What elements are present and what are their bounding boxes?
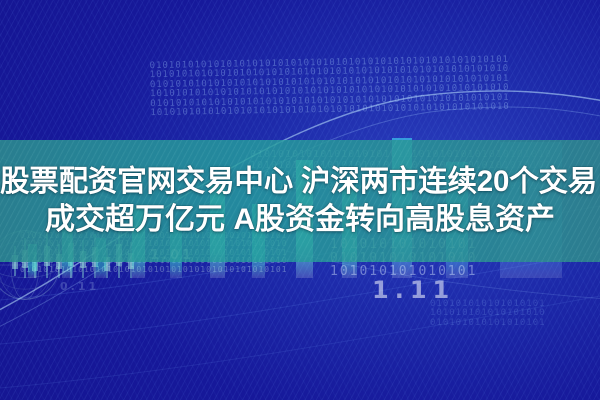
candlestick-body — [32, 260, 38, 272]
overlay-number-primary: 1.11 — [372, 276, 455, 304]
overlay-number-secondary: 1.01 — [150, 248, 194, 263]
candlestick — [34, 252, 36, 278]
candlestick-body — [56, 254, 62, 269]
chart-bar — [96, 238, 106, 278]
candlestick — [106, 248, 108, 278]
candlestick — [58, 244, 60, 278]
binary-field-bottom-right: 010101010101010101 101010101010101010 01… — [430, 300, 600, 328]
chart-bar — [28, 244, 37, 278]
candlestick-body — [128, 253, 134, 269]
candlestick-body — [22, 250, 28, 268]
candlestick-body — [68, 243, 74, 266]
candlestick — [130, 242, 132, 278]
candlestick — [94, 234, 96, 278]
candlestick — [82, 240, 84, 278]
headline-line-2: 成交超万亿元 A股资金转向高股息资产 — [0, 201, 600, 239]
page-title: 股票配资官网交易中心 沪深两市连续20个交易日 成交超万亿元 A股资金转向高股息… — [0, 163, 600, 239]
candlestick-body — [80, 251, 86, 268]
headline-line-1: 股票配资官网交易中心 沪深两市连续20个交易日 — [0, 163, 600, 201]
binary-field-upper: 0101010101010101010101010101010101010101… — [150, 54, 600, 119]
candlestick-body — [44, 246, 50, 267]
candlestick-body — [116, 244, 122, 266]
candlestick-body — [104, 257, 110, 271]
candlestick-body — [92, 247, 98, 267]
candlestick — [14, 246, 16, 276]
banner-image: 0101010101010101010101010101010101010101… — [0, 0, 600, 400]
binary-field-lower: 101010101010101 010101010101010 10101010… — [330, 238, 600, 279]
candlestick-body — [12, 255, 18, 269]
candlestick — [24, 238, 26, 278]
overlay-number-tertiary: 0.11 — [60, 280, 99, 293]
